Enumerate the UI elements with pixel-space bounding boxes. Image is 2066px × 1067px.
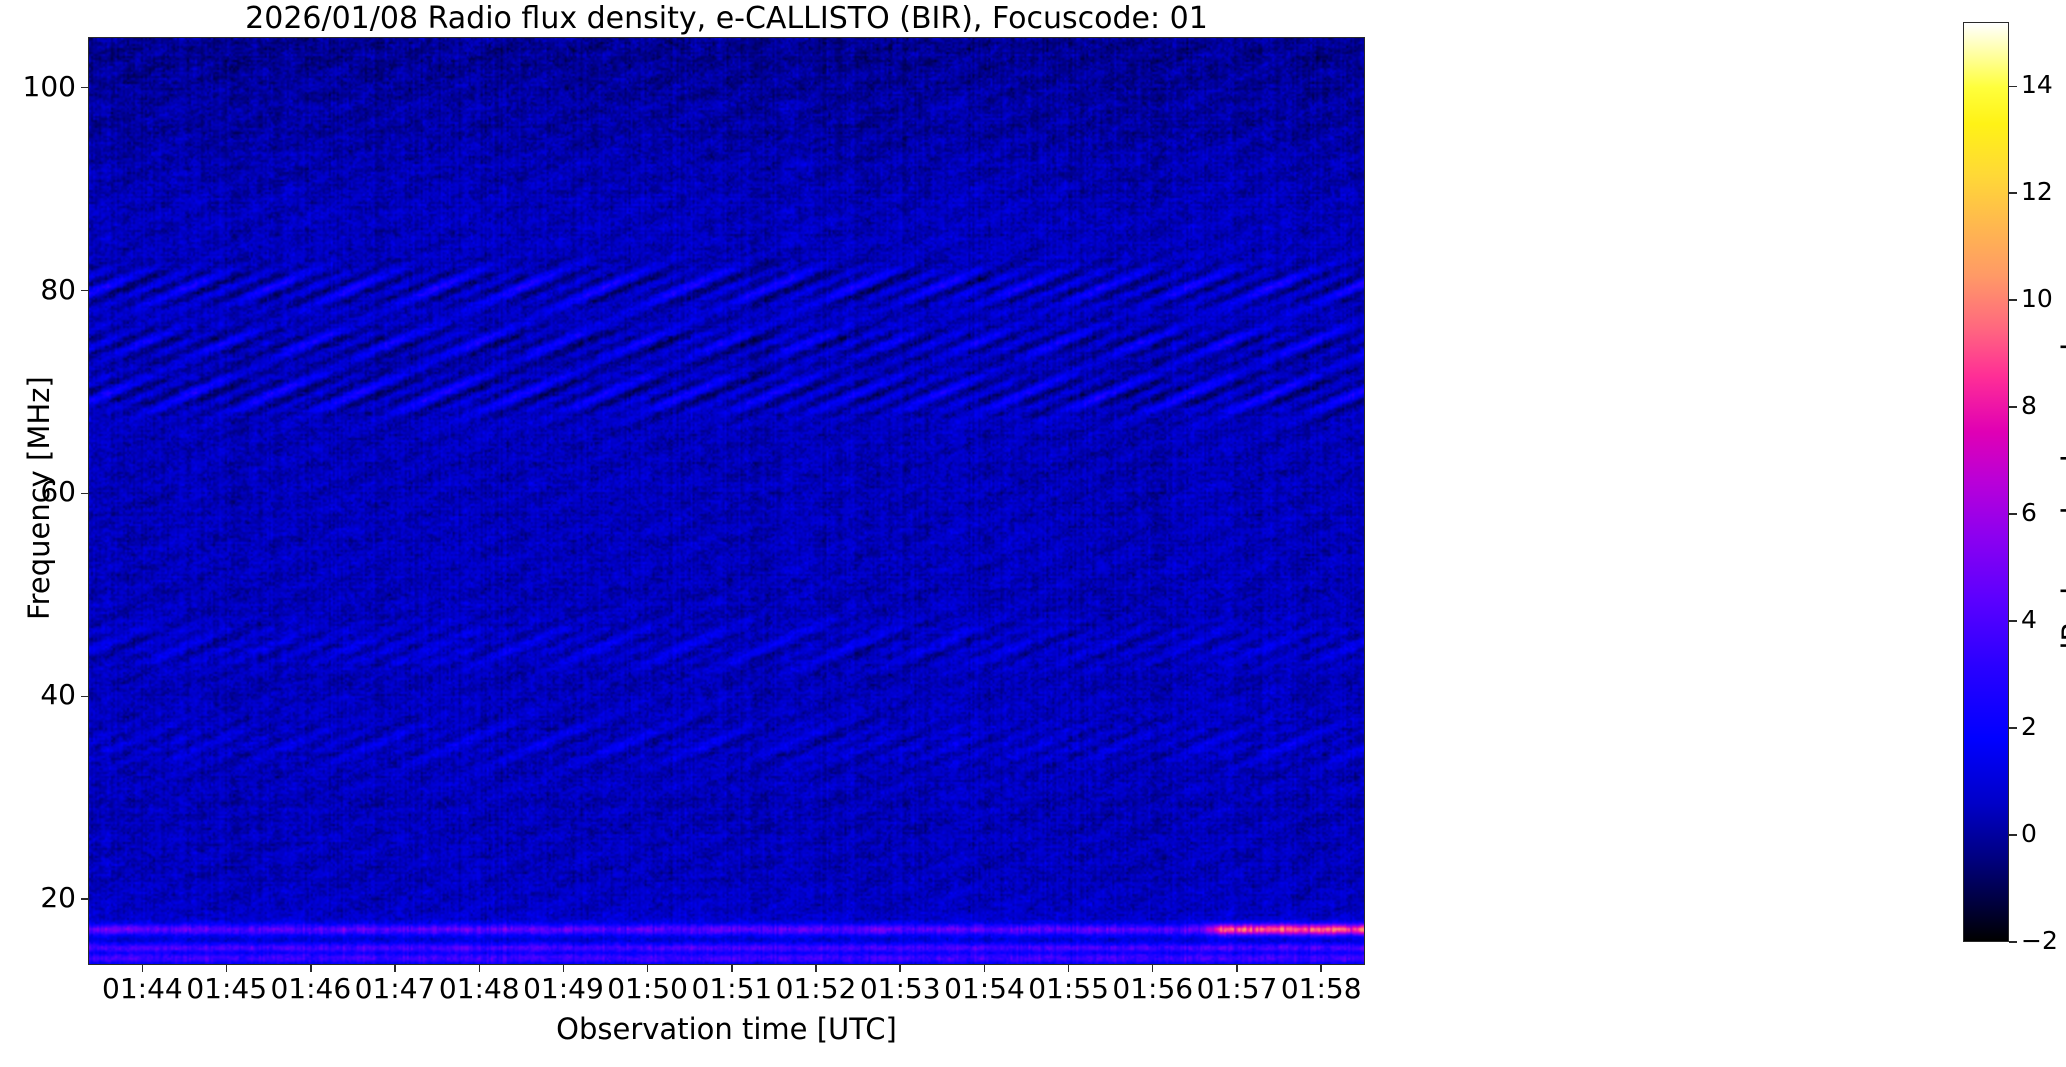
- y-tick-label: 100: [0, 70, 76, 103]
- x-tick-mark: [1152, 965, 1153, 972]
- colorbar-tick-mark: [2009, 941, 2017, 942]
- x-tick-mark: [815, 965, 816, 972]
- colorbar-tick-label: 4: [2021, 605, 2037, 634]
- colorbar-tick-mark: [2009, 406, 2017, 407]
- y-tick-label: 80: [0, 273, 76, 306]
- y-tick-label: 60: [0, 475, 76, 508]
- colorbar-tick-label: 8: [2021, 391, 2037, 420]
- y-tick-mark: [81, 696, 88, 697]
- colorbar-gradient: [1964, 23, 2008, 941]
- x-tick-mark: [984, 965, 985, 972]
- x-tick-label: 01:58: [1261, 972, 1381, 1005]
- colorbar-tick-label: −2: [2021, 926, 2058, 955]
- colorbar-label: dB above background: [2056, 343, 2066, 660]
- spectrogram-image: [89, 38, 1365, 965]
- colorbar: [1963, 22, 2009, 942]
- spectrogram-plot-area[interactable]: [88, 37, 1365, 965]
- chart-title: 2026/01/08 Radio flux density, e-CALLIST…: [88, 2, 1365, 36]
- x-tick-mark: [226, 965, 227, 972]
- x-tick-mark: [647, 965, 648, 972]
- colorbar-tick-label: 10: [2021, 284, 2053, 313]
- y-tick-mark: [81, 290, 88, 291]
- colorbar-tick-label: 6: [2021, 498, 2037, 527]
- colorbar-tick-mark: [2009, 192, 2017, 193]
- x-tick-mark: [563, 965, 564, 972]
- colorbar-tick-mark: [2009, 299, 2017, 300]
- colorbar-tick-label: 0: [2021, 819, 2037, 848]
- x-tick-mark: [479, 965, 480, 972]
- colorbar-tick-mark: [2009, 834, 2017, 835]
- x-tick-mark: [1320, 965, 1321, 972]
- y-tick-mark: [81, 898, 88, 899]
- colorbar-tick-label: 12: [2021, 177, 2053, 206]
- x-tick-mark: [310, 965, 311, 972]
- x-axis-label: Observation time [UTC]: [88, 1012, 1365, 1046]
- x-tick-mark: [731, 965, 732, 972]
- y-tick-mark: [81, 493, 88, 494]
- colorbar-tick-label: 2: [2021, 712, 2037, 741]
- colorbar-tick-mark: [2009, 513, 2017, 514]
- y-tick-label: 20: [0, 881, 76, 914]
- x-tick-mark: [142, 965, 143, 972]
- colorbar-tick-mark: [2009, 727, 2017, 728]
- y-tick-label: 40: [0, 678, 76, 711]
- colorbar-tick-label: 14: [2021, 70, 2053, 99]
- spectrogram-figure: 2026/01/08 Radio flux density, e-CALLIST…: [0, 0, 2066, 1067]
- colorbar-tick-mark: [2009, 86, 2017, 87]
- y-tick-mark: [81, 87, 88, 88]
- colorbar-tick-mark: [2009, 620, 2017, 621]
- x-tick-mark: [394, 965, 395, 972]
- x-tick-mark: [1068, 965, 1069, 972]
- x-tick-mark: [899, 965, 900, 972]
- x-tick-mark: [1236, 965, 1237, 972]
